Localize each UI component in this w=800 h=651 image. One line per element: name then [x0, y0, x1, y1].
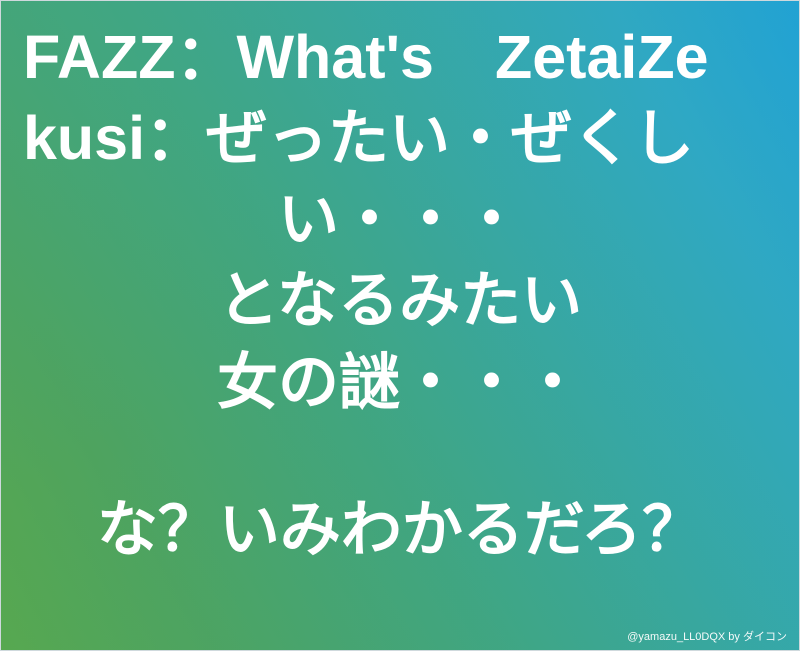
text-content-stack: FAZZ：What's ZetaiZe kusi：ぜったい・ぜくし い・・・ と… [1, 1, 799, 650]
text-line-1: FAZZ：What's ZetaiZe [23, 17, 709, 98]
text-line-6: な？いみわかるだろ？ [97, 489, 703, 570]
text-line-2: kusi：ぜったい・ぜくし [23, 98, 694, 179]
gradient-text-card: FAZZ：What's ZetaiZe kusi：ぜったい・ぜくし い・・・ と… [0, 0, 800, 651]
watermark-credit: @yamazu_LL0DQX by ダイコン [627, 632, 787, 643]
text-line-4: となるみたい [218, 260, 582, 341]
text-line-3: い・・・ [278, 179, 522, 260]
text-line-5: 女の謎・・・ [217, 342, 583, 423]
